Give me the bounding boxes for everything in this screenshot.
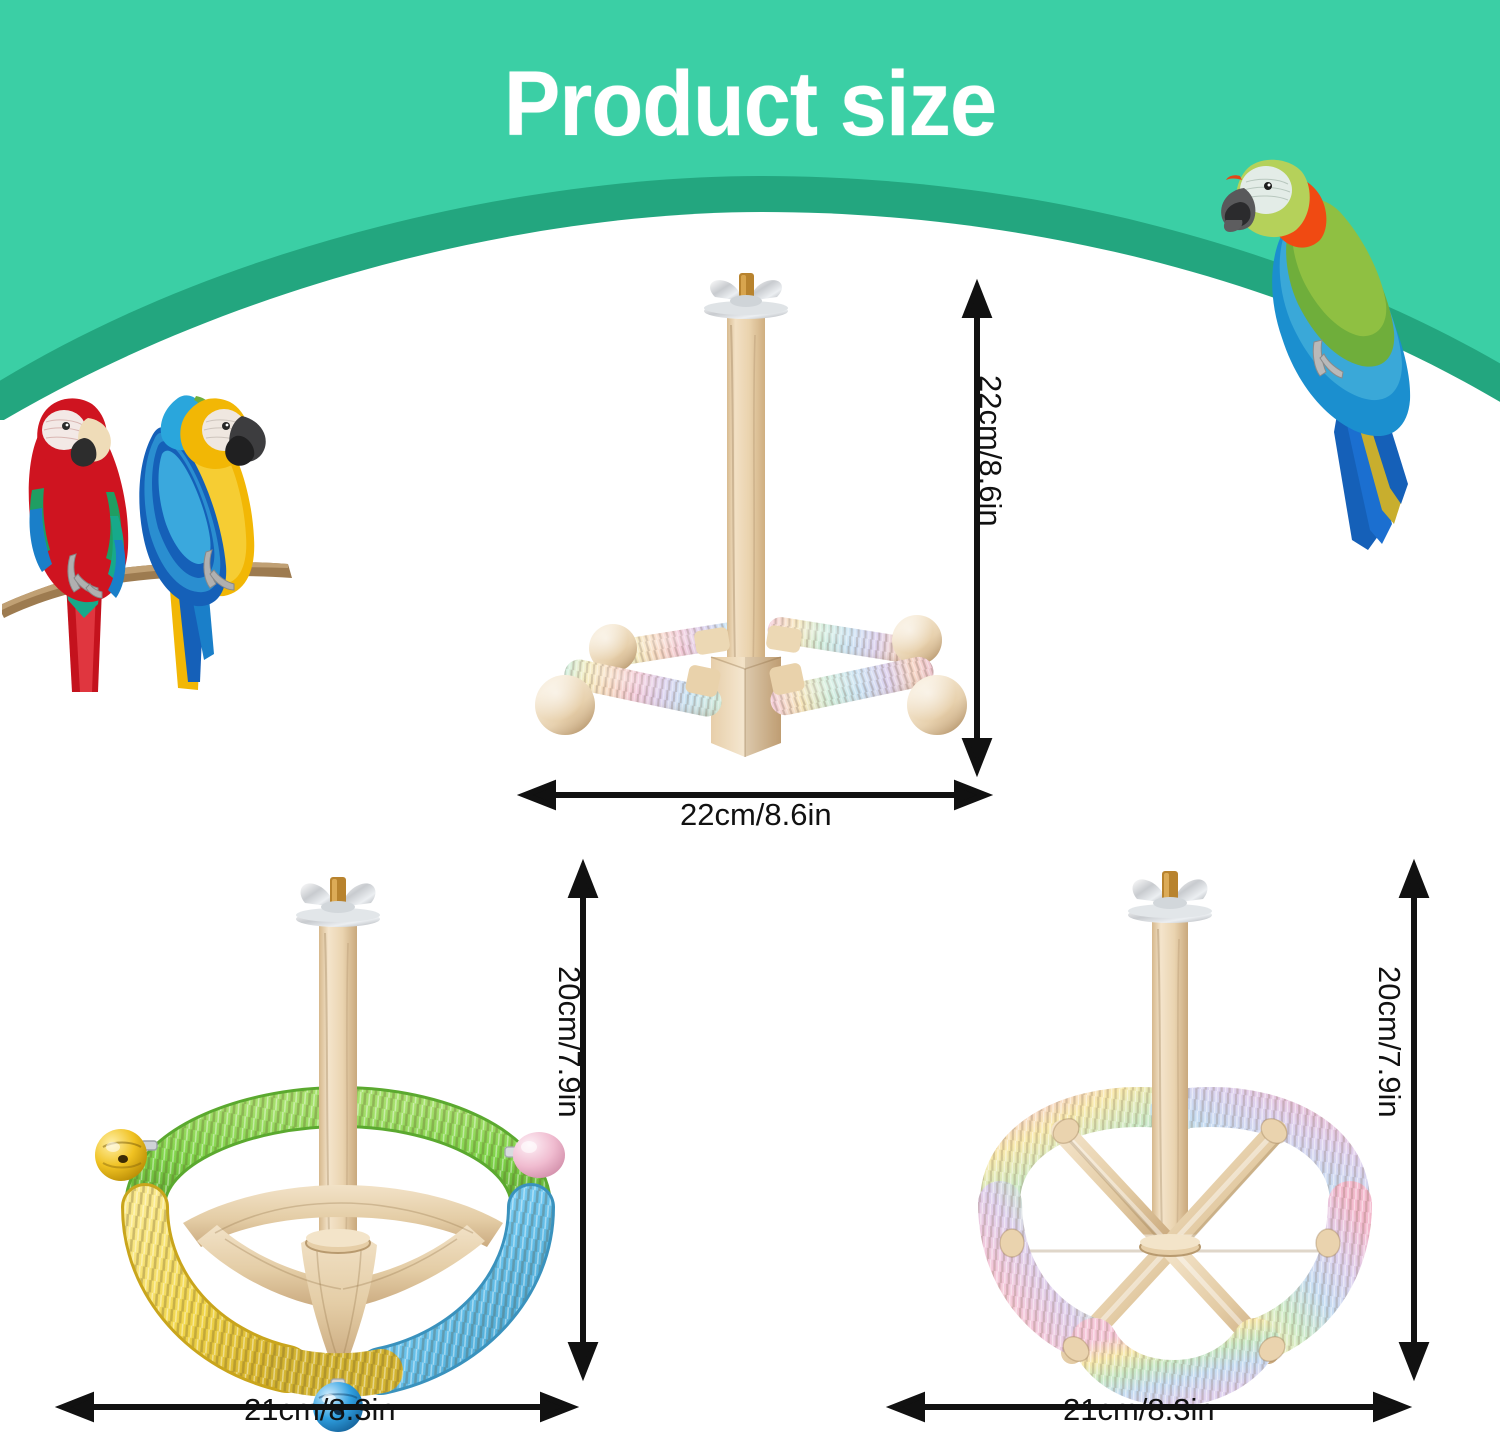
dimension-label-top-height: 22cm/8.6in xyxy=(972,375,1008,527)
dimension-label-top-width: 22cm/8.6in xyxy=(680,797,832,833)
green-blue-macaw xyxy=(1221,160,1410,550)
product-image-round-ring-perch xyxy=(55,855,615,1440)
dimension-label-br-height: 20cm/7.9in xyxy=(1371,966,1407,1118)
macaw-photo-right xyxy=(1196,132,1496,552)
blue-and-gold-macaw xyxy=(139,395,265,690)
scarlet-macaw xyxy=(29,398,128,692)
wing-nut-ring-right xyxy=(1128,871,1212,923)
wing-nut-top xyxy=(704,273,788,319)
ring-rope-bottom-link xyxy=(287,1369,381,1375)
dimension-arrow-height-bl xyxy=(572,867,594,1373)
dimension-label-bl-height: 20cm/7.9in xyxy=(551,966,587,1118)
product-image-cross-base-perch xyxy=(505,265,1005,835)
macaw-photo-pair-left xyxy=(2,392,302,692)
wing-nut-ring-left xyxy=(296,877,380,927)
dimension-arrow-height-br xyxy=(1403,867,1425,1373)
page-title: Product size xyxy=(60,52,1440,157)
product-image-flower-ring-perch xyxy=(880,855,1455,1440)
dimension-label-br-width: 21cm/8.3in xyxy=(1063,1392,1215,1428)
perch-post xyxy=(727,304,765,699)
flower-perch-post xyxy=(1152,908,1188,1251)
dimension-arrow-height-top xyxy=(966,287,988,769)
dimension-label-bl-width: 21cm/8.3in xyxy=(244,1392,396,1428)
